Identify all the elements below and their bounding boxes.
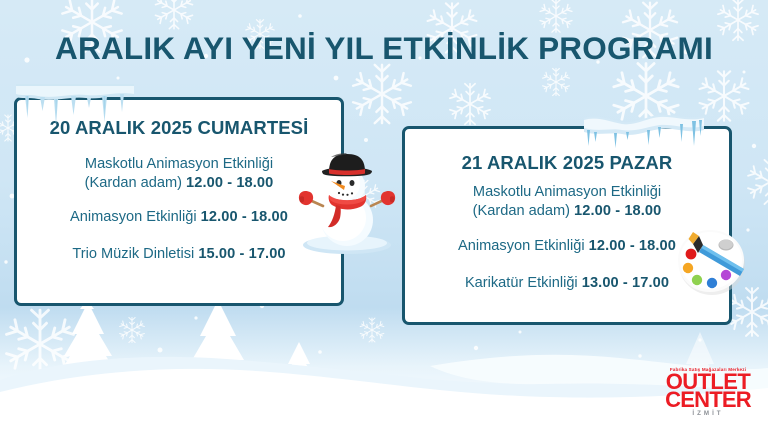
icicles-icon (16, 84, 136, 130)
icicles-icon (580, 112, 708, 154)
event-name: Karikatür Etkinliği (465, 275, 578, 291)
snow-hill-front (0, 369, 768, 427)
poster-canvas: ARALIK AYI YENİ YIL ETKİNLİK PROGRAMI 20… (0, 0, 768, 427)
event-name: Trio Müzik Dinletisi (72, 246, 194, 262)
event-time: 15.00 - 17.00 (198, 246, 285, 262)
snow-hill-fore (0, 397, 768, 427)
event-name: Animasyon Etkinliği (458, 238, 585, 254)
card-heading-date: 21 ARALIK 2025 PAZAR (405, 152, 729, 174)
page-title: ARALIK AYI YENİ YIL ETKİNLİK PROGRAMI (0, 30, 768, 67)
event-item: Maskotlu Animasyon Etkinliği (Kardan ada… (17, 155, 341, 193)
event-time: 12.00 - 18.00 (589, 238, 676, 254)
palette-dot-purple (721, 270, 731, 280)
event-name-line2: (Kardan adam) (473, 203, 570, 219)
event-list: Maskotlu Animasyon Etkinliği (Kardan ada… (17, 155, 341, 264)
palette-dot-green (692, 275, 702, 285)
palette-dot-blue (707, 278, 717, 288)
event-item: Animasyon Etkinliği 12.00 - 18.00 (17, 208, 341, 227)
palette-dot-red (686, 249, 697, 260)
event-name: Animasyon Etkinliği (70, 209, 197, 225)
event-name-line2: (Kardan adam) (85, 175, 182, 191)
event-time: 12.00 - 18.00 (201, 209, 288, 225)
snow-hill-back (0, 357, 768, 427)
outlet-center-logo: Fabrika Satış Mağazaları Merkezi OUTLET … (655, 367, 761, 417)
paint-palette-icon (672, 222, 750, 300)
event-item: Maskotlu Animasyon Etkinliği (Kardan ada… (405, 183, 729, 221)
event-item: Trio Müzik Dinletisi 15.00 - 17.00 (17, 245, 341, 264)
event-name: Maskotlu Animasyon Etkinliği (85, 156, 273, 172)
event-time: 13.00 - 17.00 (582, 275, 669, 291)
snowman-icon (298, 148, 396, 256)
event-name: Maskotlu Animasyon Etkinliği (473, 184, 661, 200)
palette-dot-orange (683, 263, 693, 273)
event-time: 12.00 - 18.00 (574, 203, 661, 219)
event-time: 12.00 - 18.00 (186, 175, 273, 191)
logo-line-2: CENTER (655, 391, 761, 409)
